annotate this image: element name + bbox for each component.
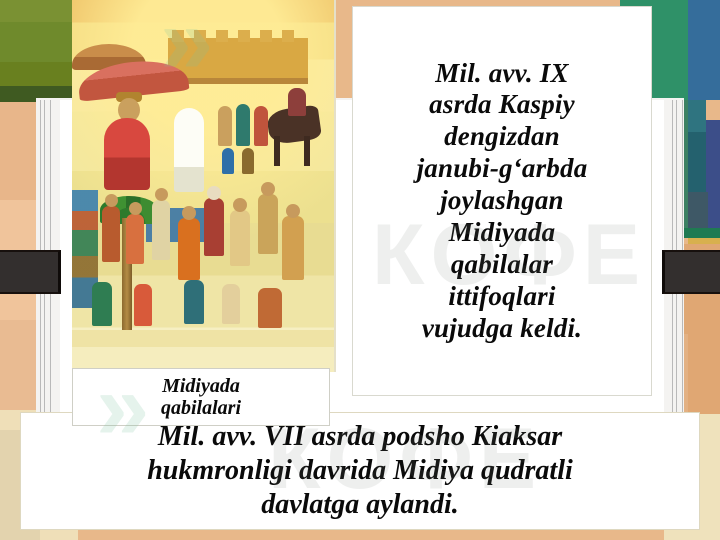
- art-figure: [236, 104, 250, 146]
- right-text-line: asrda Kaspiy: [417, 89, 588, 121]
- bottom-text-line: davlatga aylandi.: [147, 488, 573, 522]
- illustration-artwork: [72, 0, 334, 372]
- art-figure-head: [182, 206, 196, 220]
- art-figure: [204, 198, 224, 256]
- art-figure: [282, 216, 304, 280]
- art-figure: [152, 200, 170, 260]
- art-figure-head: [129, 202, 142, 215]
- right-text-line: ittifoqlari: [417, 281, 588, 313]
- right-text-line: dengizdan: [417, 121, 588, 153]
- art-crenellation: [238, 30, 250, 42]
- right-text-line: qabilalar: [417, 249, 588, 281]
- bottom-text-line: hukmronligi davrida Midiya qudratli: [147, 454, 573, 488]
- right-text-line: janubi-g‘arbda: [417, 153, 588, 185]
- picture-caption-box: Midiyada qabilalari: [72, 368, 330, 426]
- right-statement-textbox: Mil. avv. IX asrda Kaspiy dengizdan janu…: [352, 6, 652, 396]
- right-text-line: Mil. avv. IX: [417, 58, 588, 90]
- slide-canvas: » » Mil. avv. IX asrda Kaspiy dengizdan …: [0, 0, 720, 540]
- caption-line: qabilalari: [161, 397, 241, 419]
- art-figure: [92, 282, 112, 326]
- art-figure: [126, 214, 144, 264]
- right-text-line: Midiyada: [417, 217, 588, 249]
- art-figure-head: [233, 198, 247, 212]
- art-figure-head: [105, 194, 118, 207]
- right-text-line: vujudga keldi.: [417, 313, 588, 345]
- art-figure-head: [207, 186, 221, 200]
- bottom-statement-text: Mil. avv. VII asrda podsho Kiaksar hukmr…: [147, 420, 573, 522]
- art-white-robed-figure: [174, 108, 204, 192]
- art-figure: [230, 210, 250, 266]
- art-crenellation: [282, 30, 294, 42]
- art-horse-rider: [288, 88, 306, 116]
- midiya-illustration: [72, 0, 336, 372]
- art-crenellation: [194, 30, 206, 42]
- bg-block-navy-topright: [706, 120, 720, 230]
- art-figure: [254, 106, 268, 146]
- decorative-tab-right: [662, 250, 720, 294]
- art-figure-head: [286, 204, 300, 218]
- caption-line: Midiyada: [161, 375, 241, 397]
- decorative-tab-left: [0, 250, 61, 294]
- art-figure: [184, 280, 204, 324]
- art-figure: [242, 148, 254, 174]
- art-figure: [134, 284, 152, 326]
- art-figure-head: [261, 182, 275, 196]
- right-statement-text: Mil. avv. IX asrda Kaspiy dengizdan janu…: [417, 58, 588, 345]
- art-figure: [222, 284, 240, 324]
- art-figure: [218, 106, 232, 146]
- art-crenellation: [172, 30, 184, 42]
- art-figure: [258, 194, 278, 254]
- art-crenellation: [216, 30, 228, 42]
- art-king-robe: [104, 118, 150, 190]
- art-figure: [102, 206, 120, 262]
- art-horse-leg: [304, 136, 310, 166]
- bg-block-blue-topright: [688, 0, 720, 100]
- art-city-wall: [168, 38, 308, 84]
- art-figure: [258, 288, 282, 328]
- art-horse-leg: [274, 136, 280, 166]
- art-figure: [178, 218, 200, 280]
- picture-caption-text: Midiyada qabilalari: [161, 375, 241, 420]
- art-crenellation: [260, 30, 272, 42]
- art-figure: [222, 148, 234, 174]
- right-text-line: joylashgan: [417, 185, 588, 217]
- bottom-statement-textbox: Mil. avv. VII asrda podsho Kiaksar hukmr…: [20, 412, 700, 530]
- art-foreground-ground: [72, 330, 334, 372]
- art-figure-head: [155, 188, 168, 201]
